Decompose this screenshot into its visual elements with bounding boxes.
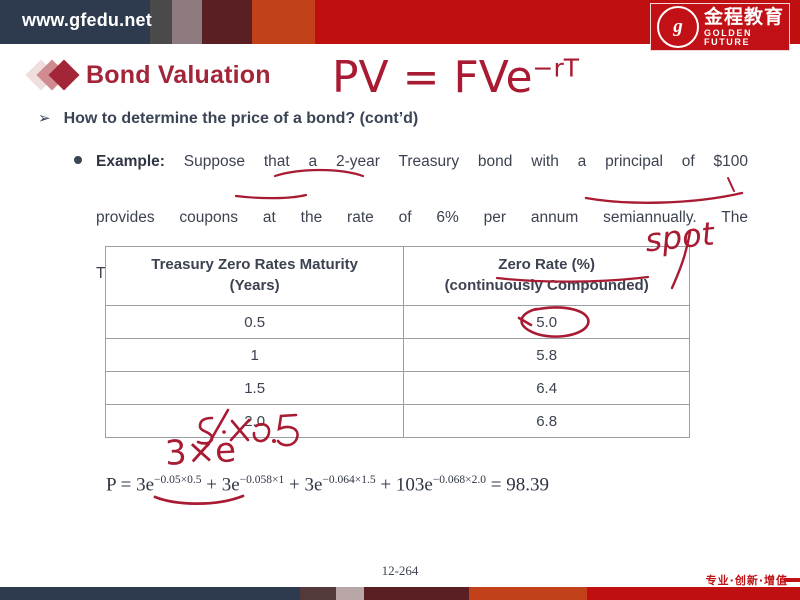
table-row: 1.5 6.4 — [106, 372, 690, 405]
table-body: 0.5 5.0 1 5.8 1.5 6.4 2.0 6.8 — [106, 306, 690, 438]
page-number: 12-264 — [0, 563, 800, 579]
table-row: 0.5 5.0 — [106, 306, 690, 339]
slide-title-row: Bond Valuation — [30, 58, 271, 92]
logo-chinese-name: 金程教育 — [704, 8, 789, 27]
cell-maturity: 1.5 — [106, 372, 404, 405]
column-header-maturity-line1: Treasury Zero Rates Maturity — [151, 256, 358, 273]
cell-rate: 6.8 — [404, 405, 690, 438]
example-line-1-text: Suppose that a 2-year Treasury bond with… — [184, 153, 748, 170]
logo-english-name: GOLDEN FUTURE — [704, 29, 789, 47]
footer-tagline-dash — [784, 578, 800, 582]
formula-result: 98.39 — [506, 474, 549, 495]
annotation-pv-base: PV = FVe — [332, 52, 533, 103]
brand-logo[interactable]: g 金程教育 GOLDEN FUTURE — [650, 3, 790, 51]
formula-label: P = — [106, 474, 136, 495]
formula-equals: = — [486, 474, 506, 495]
cell-rate: 5.8 — [404, 339, 690, 372]
logo-text: 金程教育 GOLDEN FUTURE — [704, 8, 789, 47]
formula-term4-base: 103e — [396, 474, 433, 495]
footer-block-gray — [336, 587, 364, 600]
formula-plus-2: + — [284, 474, 304, 495]
underline-first-term — [155, 496, 243, 504]
logo-seal-icon: g — [657, 6, 699, 48]
footer-block-navy — [0, 587, 300, 600]
column-header-maturity: Treasury Zero Rates Maturity (Years) — [106, 247, 404, 306]
handwritten-decimal-dot — [272, 439, 276, 443]
footer-block-maroon — [364, 587, 469, 600]
cell-maturity: 0.5 — [106, 306, 404, 339]
formula-term3-base: 3e — [304, 474, 322, 495]
formula-term2-base: 3e — [222, 474, 240, 495]
footer-block-red — [587, 587, 800, 600]
level1-bullet-row: ➢ How to determine the price of a bond? … — [38, 110, 418, 128]
table-header-row: Treasury Zero Rates Maturity (Years) Zer… — [106, 247, 690, 306]
cell-rate: 6.4 — [404, 372, 690, 405]
formula-plus-3: + — [376, 474, 396, 495]
slide-header: www.gfedu.net g 金程教育 GOLDEN FUTURE — [0, 0, 800, 44]
formula-term4-exp: −0.068×2.0 — [433, 474, 486, 486]
annotation-pv-exp: −rT — [533, 53, 580, 82]
example-line-1: Example: Suppose that a 2-year Treasury … — [96, 148, 748, 204]
page-title: Bond Valuation — [86, 61, 271, 90]
level1-text: How to determine the price of a bond? (c… — [64, 110, 419, 128]
table-row: 2.0 6.8 — [106, 405, 690, 438]
example-label: Example: — [96, 153, 165, 170]
header-block-maroon — [202, 0, 252, 44]
column-header-maturity-line2: (Years) — [230, 277, 280, 294]
footer-block-dark — [300, 587, 336, 600]
cell-rate: 5.0 — [404, 306, 690, 339]
cell-maturity: 2.0 — [106, 405, 404, 438]
footer-block-orange — [469, 587, 587, 600]
dot-bullet-icon — [74, 156, 82, 164]
formula-term1-exp: −0.05×0.5 — [154, 474, 201, 486]
site-url[interactable]: www.gfedu.net — [22, 10, 152, 31]
column-header-rate: Zero Rate (%) (continuously Compounded) — [404, 247, 690, 306]
header-block-gray — [172, 0, 202, 44]
formula-plus-1: + — [202, 474, 222, 495]
slide-footer-bar — [0, 587, 800, 600]
formula-term3-exp: −0.064×1.5 — [322, 474, 375, 486]
table-head: Treasury Zero Rates Maturity (Years) Zer… — [106, 247, 690, 306]
header-block-dark — [150, 0, 172, 44]
column-header-rate-line1: Zero Rate (%) — [498, 256, 595, 273]
diamond-bullet-icon — [30, 58, 86, 92]
footer-tagline: 专业·创新·增值 — [706, 572, 788, 588]
cell-maturity: 1 — [106, 339, 404, 372]
bond-price-formula: P = 3e−0.05×0.5 + 3e−0.058×1 + 3e−0.064×… — [106, 474, 549, 496]
formula-term1-base: 3e — [136, 474, 154, 495]
header-block-orange — [252, 0, 315, 44]
zero-rates-table: Treasury Zero Rates Maturity (Years) Zer… — [105, 246, 690, 438]
arrow-bullet-icon: ➢ — [38, 110, 51, 128]
table-row: 1 5.8 — [106, 339, 690, 372]
annotation-pv-formula: PV = FVe−rT — [332, 52, 579, 103]
column-header-rate-line2: (continuously Compounded) — [445, 277, 649, 294]
formula-term2-exp: −0.058×1 — [240, 474, 285, 486]
